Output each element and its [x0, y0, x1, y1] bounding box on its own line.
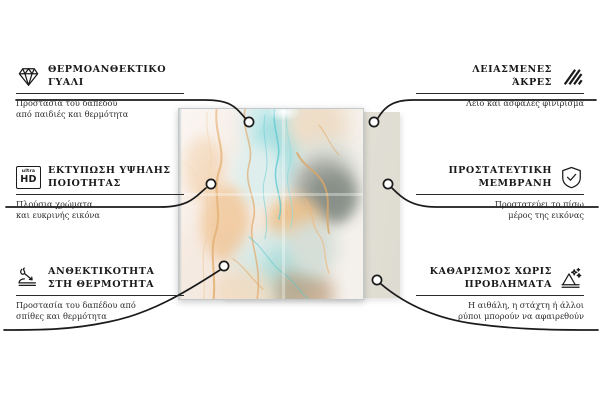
feature-divider	[16, 295, 184, 296]
feature-heading: ultra HD ΕΚΤΥΠΩΣΗ ΥΨΗΛΗΣ ΠΟΙΟΤΗΤΑΣ	[16, 165, 184, 190]
feature-divider	[16, 93, 184, 94]
feature-heading: ΚΑΘΑΡΙΣΜΟΣ ΧΩΡΙΣ ΠΡΟΒΛΗΜΑΤΑ	[416, 266, 584, 291]
abstract-marble-artwork	[179, 109, 363, 299]
shield-check-icon	[559, 165, 584, 190]
ultra-hd-icon: ultra HD	[16, 166, 41, 189]
feature-description: Πλούσια χρώματα και ευκρινής εικόνα	[16, 199, 184, 220]
feature-title: ΛΕΙΑΣΜΕΝΕΣ ΆΚΡΕΣ	[472, 64, 552, 89]
feature-divider	[16, 194, 184, 195]
feature-divider	[416, 93, 584, 94]
feature-heading: ΑΝΘΕΚΤΙΚΟΤΗΤΑ ΣΤΗ ΘΕΡΜΟΤΗΤΑ	[16, 266, 184, 291]
feature-title: ΕΚΤΥΠΩΣΗ ΥΨΗΛΗΣ ΠΟΙΟΤΗΤΑΣ	[48, 165, 171, 190]
feature-title: ΑΝΘΕΚΤΙΚΟΤΗΤΑ ΣΤΗ ΘΕΡΜΟΤΗΤΑ	[48, 266, 154, 291]
product-glass-panel	[178, 108, 364, 300]
feature-protective-membrane: ΠΡΟΣΤΑΤΕΥΤΙΚΗ ΜΕΜΒΡΑΝΗ Προστατεύει το πί…	[416, 165, 584, 220]
feature-divider	[416, 194, 584, 195]
feature-high-quality-print: ultra HD ΕΚΤΥΠΩΣΗ ΥΨΗΛΗΣ ΠΟΙΟΤΗΤΑΣ Πλούσ…	[16, 165, 184, 220]
infographic-canvas: ΘΕΡΜΟΑΝΘΕΚΤΙΚΟ ΓΥΑΛΙ Προστασία του δαπέδ…	[0, 0, 600, 400]
product-image	[178, 108, 400, 302]
feature-easy-cleaning: ΚΑΘΑΡΙΣΜΟΣ ΧΩΡΙΣ ΠΡΟΒΛΗΜΑΤΑ Η αιθάλη, η …	[416, 266, 584, 321]
feature-heat-durability: ΑΝΘΕΚΤΙΚΟΤΗΤΑ ΣΤΗ ΘΕΡΜΟΤΗΤΑ Προστασία το…	[16, 266, 184, 321]
feature-description: Λείο και ασφαλές φινίρισμα	[416, 98, 584, 109]
feature-description: Η αιθάλη, η στάχτη ή άλλοι ρύποι μπορούν…	[416, 300, 584, 321]
feature-divider	[416, 295, 584, 296]
sparkle-clean-icon	[559, 266, 584, 291]
diamond-icon	[16, 64, 41, 89]
feature-heading: ΘΕΡΜΟΑΝΘΕΚΤΙΚΟ ΓΥΑΛΙ	[16, 64, 184, 89]
feature-heading: ΛΕΙΑΣΜΕΝΕΣ ΆΚΡΕΣ	[416, 64, 584, 89]
feature-heading: ΠΡΟΣΤΑΤΕΥΤΙΚΗ ΜΕΜΒΡΑΝΗ	[416, 165, 584, 190]
feature-heat-resistant-glass: ΘΕΡΜΟΑΝΘΕΚΤΙΚΟ ΓΥΑΛΙ Προστασία του δαπέδ…	[16, 64, 184, 119]
feature-title: ΚΑΘΑΡΙΣΜΟΣ ΧΩΡΙΣ ΠΡΟΒΛΗΜΑΤΑ	[430, 266, 552, 291]
feature-description: Προστασία του δαπέδου από παιδιές και θε…	[16, 98, 184, 119]
diagonal-stripes-icon	[559, 64, 584, 89]
flame-on-surface-icon	[16, 266, 41, 291]
feature-description: Προστατεύει το πίσω μέρος της εικόνας	[416, 199, 584, 220]
ultra-hd-icon-main-label: HD	[20, 175, 37, 185]
feature-description: Προστασία του δαπέδου από σπίθες και θερ…	[16, 300, 184, 321]
feature-title: ΘΕΡΜΟΑΝΘΕΚΤΙΚΟ ΓΥΑΛΙ	[48, 64, 166, 89]
feature-smoothed-edges: ΛΕΙΑΣΜΕΝΕΣ ΆΚΡΕΣ Λείο και ασφαλές φινίρι…	[416, 64, 584, 109]
feature-title: ΠΡΟΣΤΑΤΕΥΤΙΚΗ ΜΕΜΒΡΑΝΗ	[449, 165, 552, 190]
